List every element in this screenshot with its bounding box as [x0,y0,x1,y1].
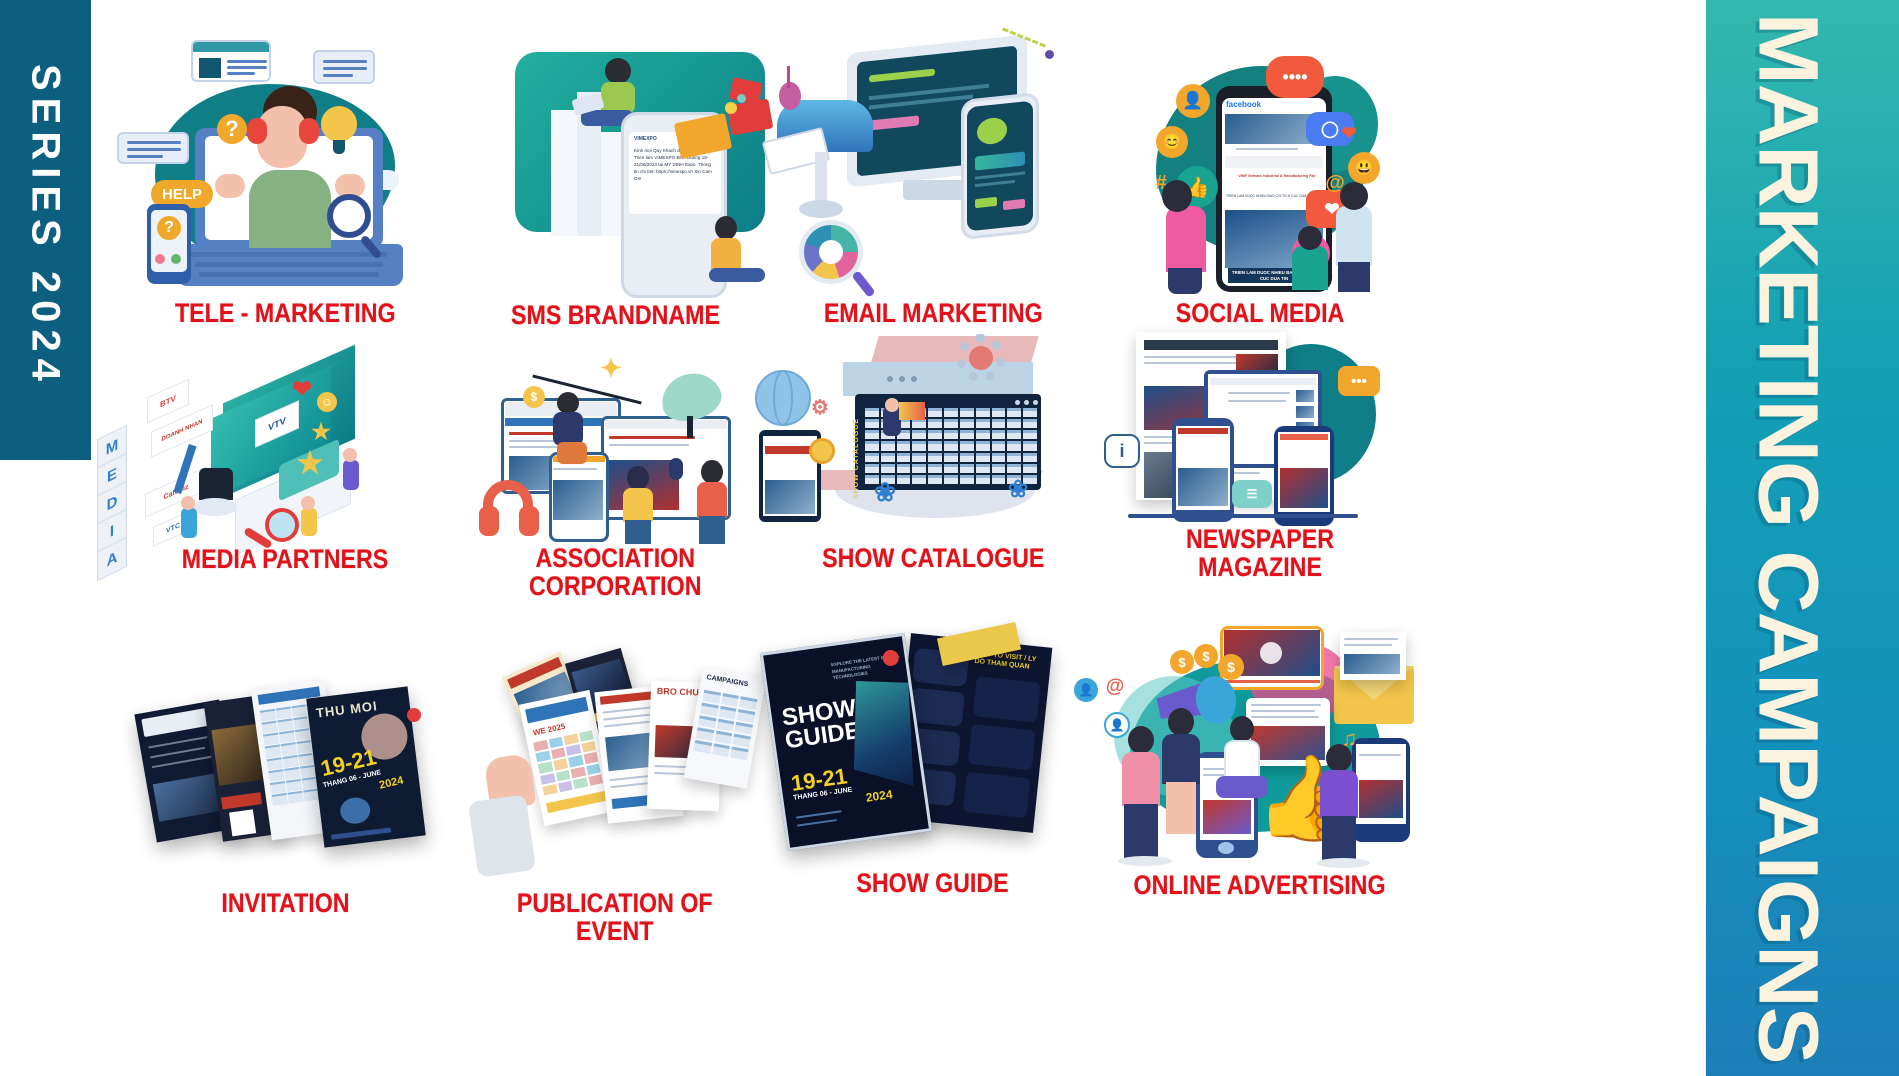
caption-newspaper-magazine: NEWSPAPER MAGAZINE [1186,526,1334,581]
person-body [1162,734,1200,784]
person-legs [1322,816,1356,860]
person-head [343,448,357,462]
leaflet-grid [533,730,603,795]
person-body [301,508,317,536]
catalogue-thumb [976,441,990,450]
grid-cell [279,731,295,744]
news-photo [553,480,603,520]
catalogue-thumb [928,441,942,450]
grid-cell [294,728,310,741]
person-legs [1124,804,1158,858]
catalogue-thumb [960,441,974,450]
catalogue-thumb [865,441,879,450]
chair-base [193,498,237,516]
grid-cell [566,744,581,756]
post-meta [1236,148,1298,150]
email-line [1344,638,1398,640]
caption-sms-brandname: SMS BRANDNAME [511,302,720,330]
dot-accent [725,102,737,114]
catalogue-thumb [960,464,974,473]
grid-cell [553,759,568,771]
lightbulb-icon [321,106,357,142]
globe-meridian [773,370,793,426]
progress-bar [1224,680,1320,683]
show-guide-cover: SHOW GUIDE EXPLORE THE LATEST GLOBAL MAN… [760,633,932,851]
grid-cell [588,774,603,786]
flower-icon: ❀ [871,478,899,506]
person-head [605,58,631,84]
panel-line [152,755,213,768]
caption-show-guide: SHOW GUIDE [857,870,1009,898]
chair-icon [199,468,233,500]
coin-icon: $ [1218,654,1244,680]
grid-cell [579,730,594,742]
grid-cell [702,690,720,704]
ground-shadow [1316,858,1370,868]
catalogue-thumb [881,464,895,473]
person-legs [1216,776,1268,798]
keyboard-row [199,272,379,277]
catalogue-thumb [1023,419,1037,428]
campaign-cell-invitation[interactable]: THU MOI 19-21 THANG 06 - JUNE 2024 INVIT… [95,640,475,918]
dot-pink [155,254,165,264]
dot-green [171,254,181,264]
sms-sender: VIMEXPO [634,136,657,142]
post-photo [1203,800,1251,834]
catalogue-thumb [1023,408,1037,417]
campaign-cell-social-media[interactable]: facebook VIMF Vietnam Industrial & Manuf… [1070,30,1450,328]
user-icon: 👤 [1074,678,1098,702]
grid-cell [287,791,303,804]
grid-cell [277,719,293,732]
invitation-illustration: THU MOI 19-21 THANG 06 - JUNE 2024 [95,640,475,890]
show-guide-illustration: WHY TO VISIT / LY DO THAM QUAN SHOW GUID… [743,620,1123,870]
info-icon: i [1104,434,1140,468]
person-body [181,508,197,538]
catalogue-thumb [1007,441,1021,450]
news-banner [1178,428,1228,434]
person-head [1230,716,1254,742]
catalogue-thumb [976,419,990,428]
caption-publication-of-event: PUBLICATION OF EVENT [517,890,713,945]
catalogue-thumb [1007,430,1021,439]
person-head [1128,726,1154,754]
grid-cell [716,718,734,732]
at-sign-icon: @ [1104,676,1126,698]
grid-cell [261,721,277,734]
monitor-stand [903,180,967,200]
coin-icon: $ [1170,650,1194,674]
email-card [1340,632,1406,680]
caption-email-marketing: EMAIL MARKETING [824,300,1043,328]
person-head [301,496,315,510]
grid-cell [293,716,309,729]
coin-icon: $ [1194,644,1218,668]
magnifier-handle [851,270,875,298]
media-partners-illustration: M E D I A BTV VTV DOANH NHAN Cafebiz VTC [95,348,475,546]
grid-cell [548,737,563,749]
person-body [343,460,359,490]
grid-cell [694,740,712,754]
catalogue-thumb [1023,430,1037,439]
catalogue-thumb [912,441,926,450]
question-mark-icon: ? [217,114,247,144]
catalogue-thumb [976,430,990,439]
grid-cell [558,781,573,793]
person-head [885,398,899,412]
catalogue-thumb [992,464,1006,473]
grid-cell [301,776,317,789]
person-legs [1166,782,1196,834]
catalogue-thumb [912,453,926,462]
post-line [1251,704,1321,706]
caption-media-partners: MEDIA PARTNERS [182,546,388,574]
catalogue-thumb [897,453,911,462]
grid-cell [555,770,570,782]
agent-body [249,170,331,248]
person-head [181,496,195,510]
catalogue-thumb [865,430,879,439]
person-head [557,392,579,414]
person-body [1122,752,1160,806]
play-button-icon [1260,642,1282,664]
person-head [1340,182,1368,210]
news-line [1228,400,1286,402]
catalogue-thumb [960,419,974,428]
catalogue-thumb [944,464,958,473]
mailbox-post [815,152,827,206]
catalogue-thumb [928,430,942,439]
catalogue-thumb [960,453,974,462]
grid-cell [284,767,300,780]
catalogue-side-label: SHOW CATALOGUE [853,418,860,499]
tele-marketing-illustration: ? HELP ? [95,22,475,300]
reaction-bar [1225,156,1323,168]
smiley-icon: ☺ [317,392,337,412]
catalogue-thumb [944,441,958,450]
campaign-cell-newspaper-magazine[interactable]: i ••• ☰ NEWSPAPER MAGAZINE [1070,318,1450,581]
caption-online-advertising: ONLINE ADVERTISING [1134,872,1386,900]
online-advertising-illustration: 👍 $ $ $ @ 👤 👤 ♫ [1070,620,1450,872]
user-icon: 👤 [1104,712,1130,738]
catalogue-thumb [1007,464,1021,473]
grid-cell [260,709,276,722]
person-body [1166,206,1206,272]
catalogue-thumb [897,475,911,484]
person-legs [1338,262,1370,292]
grid-cell [286,779,302,792]
person-legs [625,520,651,544]
grid-cell [714,731,732,745]
leaflet-band [525,697,589,724]
catalogue-thumb [928,464,942,473]
person-legs [699,516,725,544]
show-catalogue-illustration: SHOW CATALOGUE ⚙ [743,330,1123,545]
nav-bar [1210,378,1316,385]
magnifier-icon [265,508,299,542]
person-head [627,466,649,490]
grid-cell [265,745,281,758]
nav-bar [605,420,727,429]
panel-line [150,747,205,759]
grid-cell [538,762,553,774]
grid-cell [698,715,716,729]
campaign-cell-show-guide[interactable]: WHY TO VISIT / LY DO THAM QUAN SHOW GUID… [743,620,1123,898]
email-line [1344,644,1392,646]
grid-cell [275,707,291,720]
grid-cell [291,704,307,717]
grid-cell [583,752,598,764]
catalogue-thumb [865,408,879,417]
page-title: MARKETING CAMPAIGNS [1747,13,1831,1064]
cover-accent [339,796,372,825]
grid-cell [272,793,288,806]
catalogue-thumb [976,453,990,462]
catalogue-thumb [992,475,1006,484]
grid-cell [700,702,718,716]
magnifier-icon [327,194,371,238]
leaflet-label: WE 2025 [532,722,566,738]
person-head [701,460,723,484]
catalogue-thumb [976,408,990,417]
grid-cell [570,766,585,778]
grid-cell [533,740,548,752]
news-line [553,468,597,470]
grid-cell [296,740,312,753]
grid-cell [540,773,555,785]
grid-cell [535,751,550,763]
person-legs [1168,268,1202,294]
star-icon: ★ [309,420,333,444]
chat-bubble-icon: ••• [1338,366,1380,396]
spread-card [963,772,1031,818]
campaign-cell-online-advertising[interactable]: 👍 $ $ $ @ 👤 👤 ♫ [1070,620,1450,900]
grid-cell [719,706,737,720]
catalogue-thumb [944,453,958,462]
newspaper-magazine-illustration: i ••• ☰ [1070,318,1450,526]
grid-cell [712,743,730,757]
cover-logo [407,708,421,722]
catalogue-thumb [912,419,926,428]
grid-cell [586,763,601,775]
headphone-cup [519,506,539,536]
catalogue-thumb [881,441,895,450]
catalogue-thumb [960,475,974,484]
person-body [1336,206,1372,266]
flower-icon: ❀ [1005,476,1031,502]
catalogue-thumb [912,475,926,484]
leaflet-footer [546,791,607,813]
keyboard-row [195,262,383,267]
invitation-title: THU MOI [315,698,378,720]
caption-show-catalogue: SHOW CATALOGUE [822,545,1044,573]
gear-icon: ⚙ [809,396,831,418]
grid-cell [267,757,283,770]
post-line [1359,754,1401,756]
person-body [553,412,583,446]
catalogue-thumb [944,419,958,428]
person-head [715,216,737,240]
infographic-page: SERIES 2024 MARKETING CAMPAIGNS [0,0,1899,1076]
pink-band [871,336,1038,362]
window-dot [887,376,893,382]
person-head [1162,180,1192,212]
chat-bubble-icon [191,40,271,82]
building-icon [551,110,577,236]
catalogue-thumb [881,453,895,462]
catalogue-thumb [992,430,1006,439]
news-photo [1280,468,1328,508]
campaign-grid: ? HELP ? TELE - MARKETING [95,0,1705,1076]
catalogue-thumb [865,464,879,473]
grid-cell [551,748,566,760]
person-body [1224,740,1260,780]
person-body [697,482,727,518]
facebook-logo: facebook [1226,100,1261,109]
person-body [623,488,653,522]
news-line [609,436,695,439]
catalogue-thumb [944,408,958,417]
email-marketing-illustration [743,22,1123,300]
chat-bubble-icon: ☰ [1232,480,1272,508]
spread-card [968,724,1036,770]
catalogue-thumb [1007,419,1021,428]
news-line [609,444,689,446]
caption-association-corporation: ASSOCIATION CORPORATION [529,545,701,600]
heart-icon: ❤ [289,376,315,402]
catalogue-thumb [992,408,1006,417]
agent-hand [215,174,245,198]
keyboard-icon [191,252,387,257]
show-guide-year: 2024 [865,787,893,805]
flag-icon [899,402,925,420]
catalogue-thumb [1023,441,1037,450]
catalogue-thumb [912,430,926,439]
catalogue-thumb [928,419,942,428]
news-thumb [1296,406,1314,418]
lightbulb-base [333,140,345,154]
phone-home-button [1218,842,1234,854]
headphone-cup [479,506,499,536]
person-body [711,238,741,270]
catalogue-thumb [1023,453,1037,462]
catalogue-thumb [865,419,879,428]
cover-line [797,819,837,827]
paper-masthead [1144,340,1278,350]
news-line [1228,392,1290,394]
window-dot [911,376,917,382]
news-banner [1280,434,1328,440]
news-photo [765,480,815,514]
catalogue-thumb [1023,464,1037,473]
series-label: SERIES 2024 [26,64,66,388]
catalogue-thumb [928,453,942,462]
mailbox-base [799,200,843,218]
catalogue-thumb [960,408,974,417]
post-line [1251,716,1319,718]
grid-cell [696,728,714,742]
catalogue-thumb [1007,408,1021,417]
caption-invitation: INVITATION [221,890,349,918]
headset-icon [299,118,319,144]
person-body [1320,770,1358,818]
catalogue-thumb [960,430,974,439]
grid-cell [280,743,296,756]
person-head [1298,226,1322,250]
person-head [1326,744,1352,772]
grid-cell [568,755,583,767]
grid-cell [721,693,739,707]
catalogue-thumb [944,475,958,484]
blue-band [843,362,1033,396]
catalogue-thumb [992,419,1006,428]
ground-line [1128,514,1358,518]
social-media-illustration: facebook VIMF Vietnam Industrial & Manuf… [1070,30,1450,300]
campaign-cell-tele-marketing[interactable]: ? HELP ? TELE - MARKETING [95,22,475,328]
news-banner [765,446,815,454]
grid-cell [542,784,557,796]
campaign-cell-email-marketing[interactable]: EMAIL MARKETING [743,22,1123,328]
user-icon: 👤 [1176,84,1210,118]
catalogue-thumb [976,464,990,473]
cover-line [796,810,842,818]
catalogue-thumb [897,464,911,473]
heart-icon: ❤ [1338,122,1360,144]
pie-center [819,240,843,264]
grid-cell [270,781,286,794]
window-dot [899,376,905,382]
gear-inner [969,346,993,370]
catalogue-thumb [976,475,990,484]
news-thumb [1296,390,1314,402]
sleeve-icon [468,794,536,877]
grid-cell [263,733,279,746]
question-mark-icon: ? [157,216,181,240]
smiley-icon: 😃 [1348,152,1380,184]
catalogue-thumb [992,441,1006,450]
grid-cell [282,755,298,768]
person-head [1168,708,1194,736]
mailbox-flag-pole [787,66,790,88]
chat-bubble-icon: •••• [1266,56,1324,98]
window-dot [1024,400,1029,405]
building-icon [601,132,623,236]
campaign-cell-media-partners[interactable]: M E D I A BTV VTV DOANH NHAN Cafebiz VTC [95,348,475,574]
catalogue-thumb [928,408,942,417]
post-photo [1359,780,1403,818]
caption-tele-marketing: TELE - MARKETING [175,300,396,328]
stopwatch-icon [809,438,835,464]
catalogue-thumb [1007,453,1021,462]
email-photo [1344,654,1400,674]
mailbox-flag [779,82,801,110]
qr-code [229,809,256,836]
grid-cell [298,752,314,765]
campaign-cell-show-catalogue[interactable]: SHOW CATALOGUE ⚙ [743,330,1123,573]
grid-cell [563,733,578,745]
catalogue-thumb [944,430,958,439]
series-sidebar: SERIES 2024 [0,0,91,460]
news-photo [1178,468,1228,506]
catalogue-thumb [897,441,911,450]
post-line [1251,710,1315,712]
smiley-icon: 😊 [1156,126,1188,158]
ground-shadow [1118,856,1172,866]
catalogue-thumb [865,453,879,462]
cover-footer [331,827,391,839]
grid-cell [268,769,284,782]
spread-card [973,676,1041,722]
